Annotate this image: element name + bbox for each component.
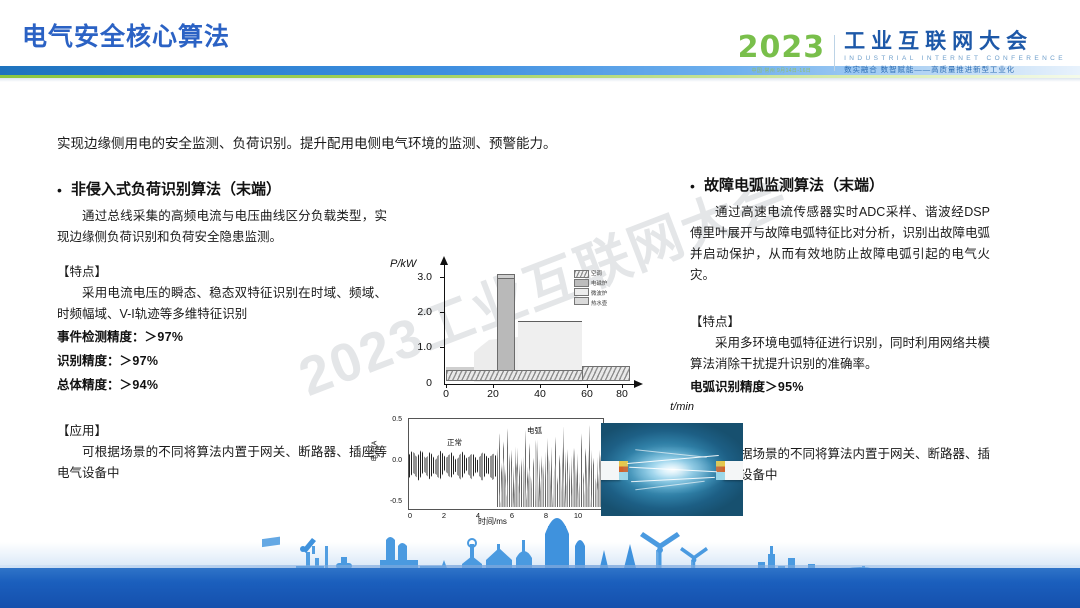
left-application-text: 可根据场景的不同将算法内置于网关、断路器、插座等电气设备中 bbox=[57, 442, 387, 484]
skyline-water bbox=[0, 568, 1080, 608]
bullet-icon: • bbox=[690, 176, 704, 196]
bullet-icon: • bbox=[57, 180, 71, 200]
power-chart-xtick-2: 40 bbox=[528, 388, 552, 400]
wave-normal-series bbox=[409, 449, 497, 482]
left-metric-2-name: 总体精度： bbox=[57, 378, 120, 392]
logo-name-en: INDUSTRIAL INTERNET CONFERENCE bbox=[844, 55, 1066, 62]
legend-swatch-3 bbox=[574, 297, 589, 305]
power-chart-xtick-1: 20 bbox=[481, 388, 505, 400]
legend-label-2: 微波炉 bbox=[591, 290, 607, 299]
cable-left bbox=[601, 461, 621, 480]
left-application-label: 【应用】 bbox=[57, 421, 387, 442]
power-chart-ytick-mark bbox=[440, 347, 444, 348]
wave-annotation-arc: 电弧 bbox=[527, 425, 542, 436]
left-metric-2-value: ＞94% bbox=[120, 378, 159, 392]
right-heading: 故障电弧监测算法（末端） bbox=[704, 176, 884, 196]
logo-divider bbox=[834, 35, 835, 71]
right-metric-0-name: 电弧识别精度 bbox=[690, 380, 765, 394]
footer-skyline bbox=[0, 516, 1080, 608]
power-chart-ytick-3: 3.0 bbox=[406, 271, 432, 283]
legend-label-0: 空调 bbox=[591, 270, 607, 279]
power-chart-ytick-mark bbox=[440, 277, 444, 278]
power-chart-ylabel: P/kW bbox=[390, 258, 416, 270]
legend-swatch-0 bbox=[574, 270, 589, 278]
power-chart-xtick-0: 0 bbox=[434, 388, 458, 400]
left-heading: 非侵入式负荷识别算法（末端） bbox=[71, 180, 281, 200]
power-chart-ytick-1: 1.0 bbox=[406, 341, 432, 353]
left-feature-text: 采用电流电压的瞬态、稳态双特征识别在时域、频域、时频幅域、V-I轨迹等多维特征识… bbox=[57, 283, 387, 325]
right-feature-label: 【特点】 bbox=[690, 312, 990, 333]
left-metric-1: 识别精度：＞97% bbox=[57, 349, 387, 373]
arc-discharge-photo bbox=[601, 423, 743, 516]
logo-year-block: 2023 中国·常州 9月14日-16日 bbox=[738, 33, 835, 74]
wave-chart-plot-area: 正常 电弧 bbox=[408, 418, 604, 510]
power-chart-ytick-mark bbox=[440, 312, 444, 313]
power-chart-xlabel: t/min bbox=[670, 401, 694, 413]
cable-right bbox=[723, 461, 743, 480]
power-chart-tail-band bbox=[582, 366, 630, 381]
left-metric-0-name: 事件检测精度： bbox=[57, 330, 145, 344]
power-chart-x-arrow-icon bbox=[634, 380, 643, 388]
left-description: 通过总线采集的高频电流与电压曲线区分负载类型，实现边缘侧负荷识别和负荷安全隐患监… bbox=[57, 206, 387, 248]
logo-year-subtitle: 中国·常州 9月14日-16日 bbox=[752, 67, 812, 74]
power-chart-spike-cap bbox=[497, 274, 515, 279]
conference-logo: 2023 中国·常州 9月14日-16日 工业互联网大会 INDUSTRIAL … bbox=[738, 26, 1066, 80]
left-metric-2: 总体精度：＞94% bbox=[57, 373, 387, 397]
legend-label-1: 电磁炉 bbox=[591, 280, 607, 289]
legend-label-3: 热水壶 bbox=[591, 300, 607, 309]
power-chart-spike bbox=[497, 276, 515, 381]
power-chart-ytick-0: 0 bbox=[406, 377, 432, 389]
left-feature-label: 【特点】 bbox=[57, 262, 387, 283]
wave-chart-ytick-0: 0.5 bbox=[374, 416, 402, 423]
legend-swatch-2 bbox=[574, 288, 589, 296]
logo-tagline: 数实融合 数智赋能——高质量推进新型工业化 bbox=[844, 64, 1066, 75]
power-chart-y-axis bbox=[444, 264, 445, 384]
arc-current-waveform-chart: 电流/A 0.5 0.0 -0.5 正常 电弧 0 2 4 6 8 10 时间/… bbox=[372, 412, 622, 532]
left-metric-0-value: ＞97% bbox=[145, 330, 184, 344]
wave-annotation-normal: 正常 bbox=[447, 437, 462, 448]
power-chart-legend-labels: 空调 电磁炉 微波炉 热水壶 bbox=[591, 270, 607, 309]
logo-name-block: 工业互联网大会 INDUSTRIAL INTERNET CONFERENCE 数… bbox=[844, 31, 1066, 75]
right-spacer bbox=[690, 399, 990, 415]
logo-name-cn: 工业互联网大会 bbox=[844, 31, 1066, 53]
left-metric-0: 事件检测精度：＞97% bbox=[57, 325, 387, 349]
legend-swatch-1 bbox=[574, 279, 589, 287]
power-chart-y-arrow-icon bbox=[440, 256, 448, 265]
left-metric-1-value: ＞97% bbox=[120, 354, 159, 368]
slide-root: 电气安全核心算法 2023 中国·常州 9月14日-16日 工业互联网大会 IN… bbox=[0, 0, 1080, 608]
left-spacer bbox=[57, 397, 387, 413]
right-heading-row: • 故障电弧监测算法（末端） bbox=[690, 176, 990, 196]
wave-chart-ytick-2: -0.5 bbox=[374, 498, 402, 505]
power-chart-legend-swatches bbox=[574, 270, 589, 305]
page-title: 电气安全核心算法 bbox=[22, 17, 230, 53]
right-description: 通过高速电流传感器实时ADC采样、谐波经DSP傅里叶展开与故障电弧特征比对分析，… bbox=[690, 202, 990, 286]
logo-year: 2023 bbox=[738, 33, 826, 63]
right-metric-0: 电弧识别精度＞95% bbox=[690, 375, 990, 399]
power-chart-xtick-4: 80 bbox=[610, 388, 634, 400]
right-metric-0-value: ＞95% bbox=[765, 380, 804, 394]
left-heading-row: • 非侵入式负荷识别算法（末端） bbox=[57, 180, 387, 200]
power-chart-legend: 空调 电磁炉 微波炉 热水壶 bbox=[574, 270, 607, 309]
power-load-chart: P/kW 1.0 2.0 3.0 0 0 20 40 60 80 t/min bbox=[398, 258, 660, 410]
intro-text: 实现边缘侧用电的安全监测、负荷识别。提升配用电侧电气环境的监测、预警能力。 bbox=[57, 132, 557, 152]
left-metric-1-name: 识别精度： bbox=[57, 354, 120, 368]
left-column: • 非侵入式负荷识别算法（末端） 通过总线采集的高频电流与电压曲线区分负载类型，… bbox=[57, 180, 387, 484]
right-feature-text: 采用多环境电弧特征进行识别，同时利用网络共模算法消除干扰提升识别的准确率。 bbox=[690, 333, 990, 375]
wave-chart-ytick-1: 0.0 bbox=[374, 457, 402, 464]
power-chart-xtick-3: 60 bbox=[575, 388, 599, 400]
power-chart-ytick-2: 2.0 bbox=[406, 306, 432, 318]
